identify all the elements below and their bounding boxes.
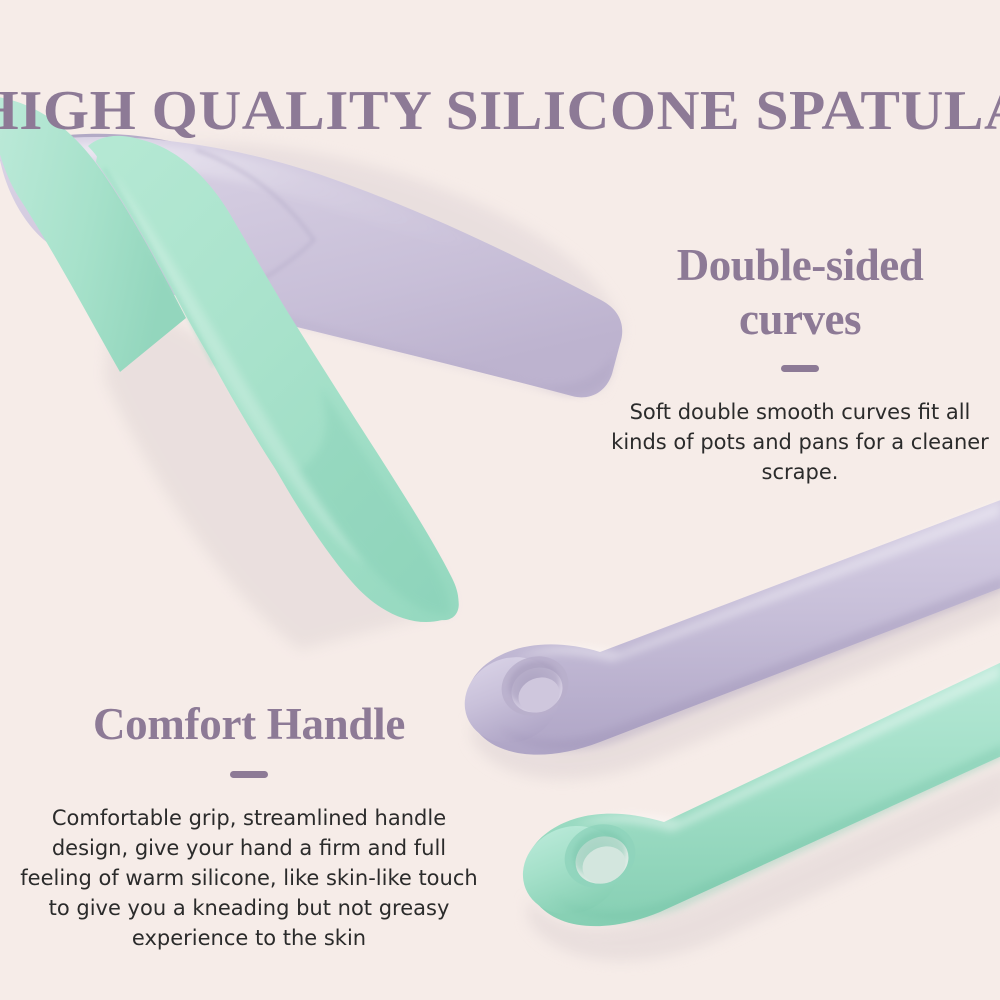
feature-body-comfort-handle: Comfortable grip, streamlined handle des… [14, 803, 484, 953]
infographic-page: HIGH QUALITY SILICONE SPATULA Double-sid… [0, 0, 1000, 1000]
feature-title-line-1: Double-sided [677, 240, 924, 290]
page-title: HIGH QUALITY SILICONE SPATULA [0, 82, 1000, 140]
feature-title-line-2: curves [739, 294, 861, 344]
feature-divider-double-sided-curves [781, 365, 819, 372]
feature-title-comfort-handle: Comfort Handle [14, 697, 484, 751]
feature-divider-comfort-handle [230, 771, 268, 778]
feature-body-double-sided-curves: Soft double smooth curves fit all kinds … [600, 397, 1000, 487]
feature-title-double-sided-curves: Double-sided curves [600, 238, 1000, 346]
feature-comfort-handle: Comfort Handle Comfortable grip, streaml… [14, 697, 484, 953]
feature-double-sided-curves: Double-sided curves Soft double smooth c… [600, 238, 1000, 487]
